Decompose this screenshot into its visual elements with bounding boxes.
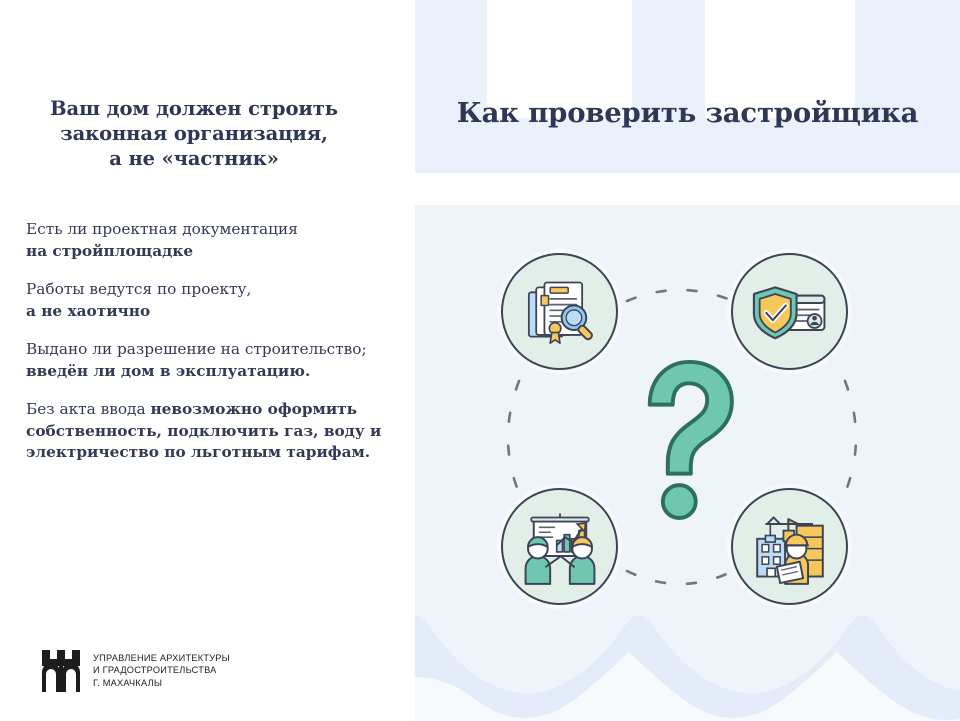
item-3-regular: Выдано ли разрешение на строительство; [26,340,367,358]
left-text-column: Ваш дом должен строить законная организа… [0,0,415,721]
icon-circle-construction[interactable] [731,488,848,605]
checklist-item-3: Выдано ли разрешение на строительство; в… [26,339,406,382]
footer-logo: УПРАВЛЕНИЕ АРХИТЕКТУРЫ И ГРАДОСТРОИТЕЛЬС… [40,648,230,692]
left-heading-line-1: Ваш дом должен строить [18,96,370,121]
left-body-text: Есть ли проектная документация на стройп… [26,219,406,464]
right-illustration-column: Как проверить застройщика [415,0,960,721]
page-title: Как проверить застройщика [415,96,960,130]
illustration-panel [415,205,960,721]
documents-magnifier-icon [519,271,601,353]
infographic-page: Ваш дом должен строить законная организа… [0,0,960,721]
shield-license-icon [749,271,831,353]
item-1-regular: Есть ли проектная документация [26,220,298,238]
presentation-people-icon [519,506,601,588]
item-2-bold: а не хаотично [26,302,150,320]
left-heading: Ваш дом должен строить законная организа… [18,96,370,171]
left-heading-line-3: а не «частник» [18,146,370,171]
item-4-regular: Без акта ввода [26,400,150,418]
checklist-item-2: Работы ведутся по проекту, а не хаотично [26,279,406,322]
checklist-item-4: Без акта ввода невозможно оформить собст… [26,399,406,464]
checklist-item-1: Есть ли проектная документация на стройп… [26,219,406,262]
logo-line-3: Г. МАХАЧКАЛЫ [93,677,230,689]
icon-circle-documents[interactable] [501,253,618,370]
fortress-gate-icon [40,648,82,692]
item-2-regular: Работы ведутся по проекту, [26,280,251,298]
question-mark-icon [630,355,745,520]
item-1-bold: на стройплощадке [26,242,193,260]
item-3-bold: введён ли дом в эксплуатацию. [26,362,310,380]
left-heading-line-2: законная организация, [18,121,370,146]
icon-circle-presentation[interactable] [501,488,618,605]
title-band: Как проверить застройщика [415,0,960,173]
icon-circle-license[interactable] [731,253,848,370]
logo-text: УПРАВЛЕНИЕ АРХИТЕКТУРЫ И ГРАДОСТРОИТЕЛЬС… [93,648,230,689]
logo-line-1: УПРАВЛЕНИЕ АРХИТЕКТУРЫ [93,652,230,664]
construction-site-icon [749,506,831,588]
logo-line-2: И ГРАДОСТРОИТЕЛЬСТВА [93,664,230,676]
